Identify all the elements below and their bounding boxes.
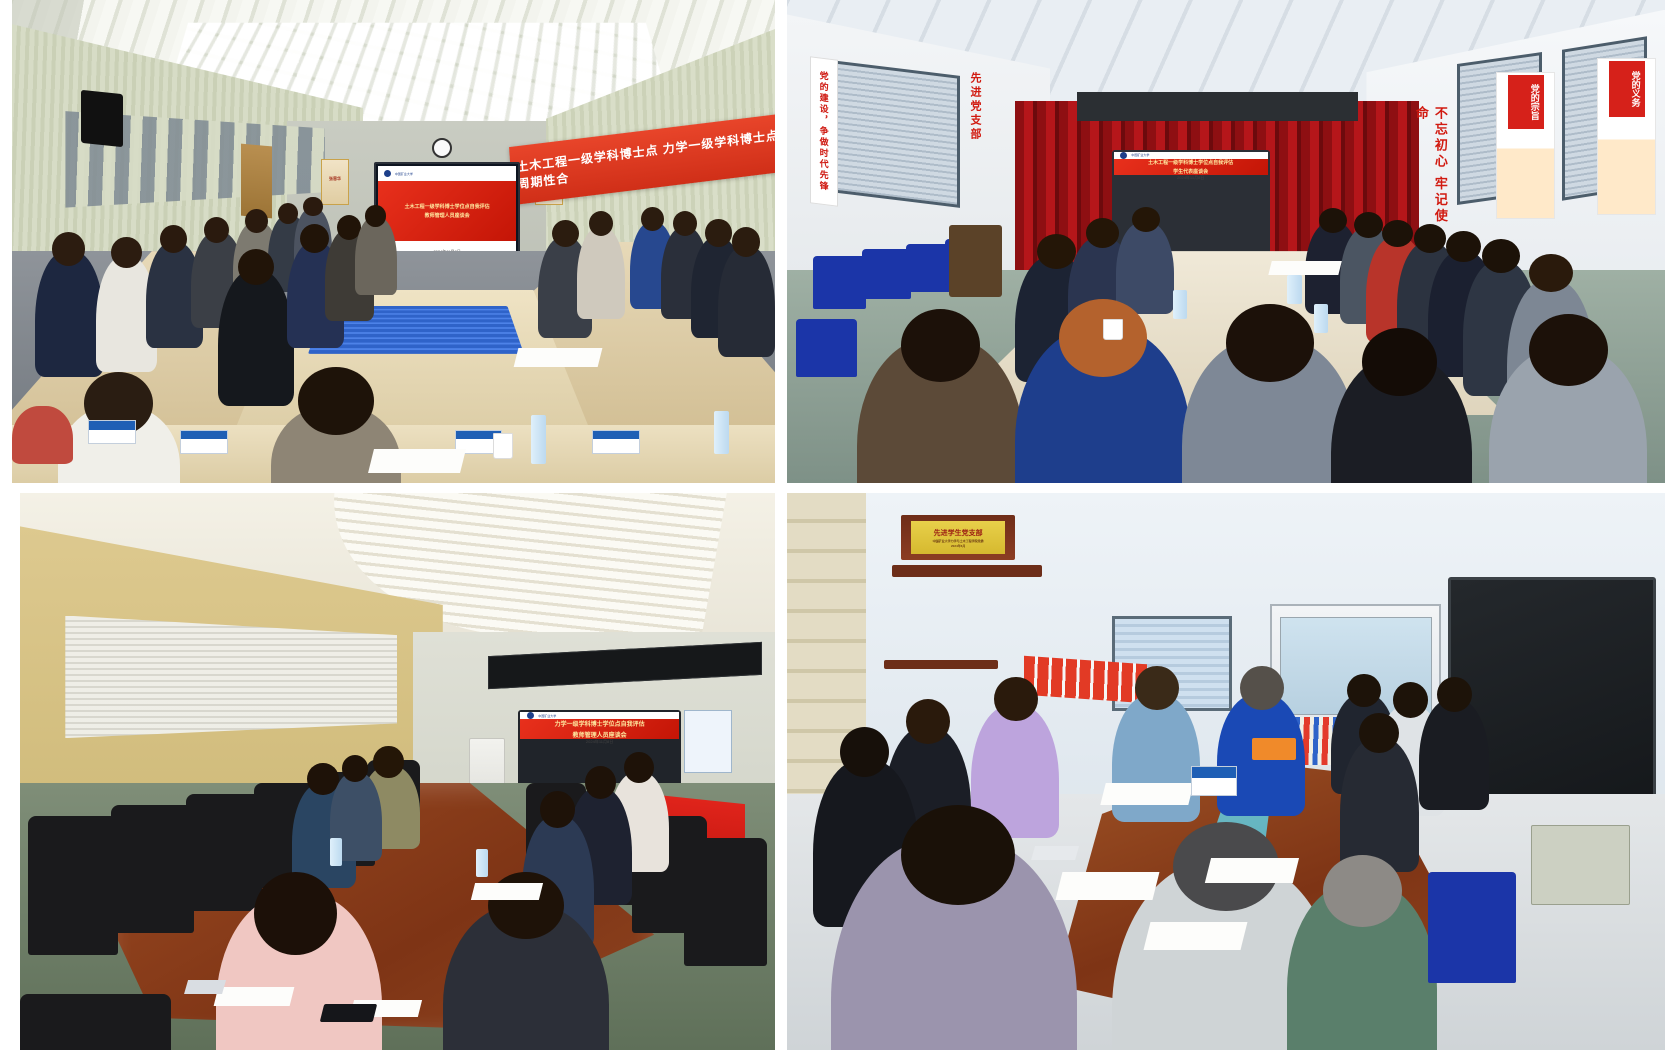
left-wall-slogan: 党的建设，争做时代先锋 — [810, 56, 838, 206]
tissue-box — [1031, 846, 1079, 860]
wooden-chair — [949, 225, 1002, 297]
name-card — [1191, 766, 1237, 796]
party-poster-2-title: 党的义务 — [1609, 61, 1645, 118]
photo-top-right: 党的建设，争做时代先锋 先进党支部 不忘初心 牢记使命 党的宗旨 党的义务 中国… — [787, 0, 1665, 483]
water-bottle — [476, 849, 488, 877]
paper-cup — [1103, 319, 1123, 340]
water-bottle — [330, 838, 342, 866]
water-bottle — [1287, 275, 1301, 304]
slide-title-line1: 土木工程一级学科博士学位点自我评估 — [405, 203, 490, 210]
paper-sheet — [1056, 872, 1160, 900]
photo-collage: 张恩华 正方做事 做成做优 土木工程一级学科博士点 力学一级学科博士点周期性合 … — [0, 0, 1680, 1050]
slide: 中国矿业大学 土木工程一级学科博士学位点自我评估 教师管理人员座谈会 2024年… — [378, 166, 515, 263]
right-wall-slogan: 不忘初心 牢记使命 — [1412, 106, 1450, 232]
slide-org: 中国矿业大学 — [1131, 153, 1149, 157]
paper-sheet — [1143, 922, 1247, 950]
honor-plaque-date: 2024年6月 — [951, 544, 965, 548]
party-poster-1: 党的宗旨 — [1496, 72, 1555, 219]
water-bottle — [714, 411, 729, 454]
window-blinds — [65, 616, 397, 739]
slide-title-line1: 土木工程一级学科博士学位点自我评估 — [1148, 159, 1233, 166]
stage-beam — [1077, 92, 1358, 121]
wall-shelf — [884, 660, 998, 669]
paper-sheet — [1100, 783, 1193, 805]
slide-title-line2: 教师管理人员座谈会 — [573, 730, 627, 739]
party-poster-1-title: 党的宗旨 — [1508, 75, 1544, 128]
right-wall-slogan-text: 不忘初心 牢记使命 — [1414, 106, 1448, 225]
slide-header: 中国矿业大学 — [378, 166, 515, 181]
slide-title-line2: 教师管理人员座谈会 — [425, 212, 470, 219]
honor-plaque: 先进学生党支部 中国矿业大学力学与土木工程学院党委 2024年6月 — [901, 515, 1015, 560]
slide-date: 2024年11月8日 — [520, 739, 679, 745]
name-card — [592, 430, 640, 454]
wall-speaker — [81, 90, 123, 148]
honor-plaque-title: 先进学生党支部 — [934, 528, 983, 538]
wall-portrait-caption: 张恩华 — [322, 176, 348, 182]
slide: 中国矿业大学 力学一级学科博士学位点自我评估 教师管理人员座谈会 2024年11… — [520, 712, 679, 745]
paper-sheet — [1205, 858, 1299, 883]
university-logo-icon — [527, 712, 534, 719]
water-bottle — [1173, 290, 1187, 319]
tissue-box — [184, 980, 226, 994]
slide-date: 2024年11月8日 — [1114, 175, 1268, 181]
window — [831, 60, 960, 207]
notebook — [320, 1004, 377, 1022]
side-chair — [1531, 825, 1630, 905]
paper-sheet — [513, 348, 602, 367]
wall-shelf — [892, 565, 1041, 576]
university-logo-icon — [384, 170, 391, 177]
slide-title-block: 土木工程一级学科博士学位点自我评估 教师管理人员座谈会 — [378, 181, 515, 241]
university-logo-icon — [1120, 152, 1127, 159]
name-card — [88, 420, 136, 444]
slide-header: 中国矿业大学 — [520, 712, 679, 719]
paper-sheet — [368, 449, 466, 473]
scene-top-left: 张恩华 正方做事 做成做优 土木工程一级学科博士点 力学一级学科博士点周期性合 … — [12, 0, 775, 483]
slide-title-block: 土木工程一级学科博士学位点自我评估 学生代表座谈会 — [1114, 159, 1268, 175]
door — [241, 144, 272, 219]
party-poster-2: 党的义务 — [1597, 58, 1656, 215]
notice-board — [684, 710, 731, 773]
water-bottle — [1314, 304, 1328, 333]
honor-plaque-sub: 中国矿业大学力学与土木工程学院党委 — [933, 539, 984, 543]
scene-bottom-right: 先进学生党支部 中国矿业大学力学与土木工程学院党委 2024年6月 — [787, 493, 1665, 1050]
photo-top-left: 张恩华 正方做事 做成做优 土木工程一级学科博士点 力学一级学科博士点周期性合 … — [12, 0, 775, 483]
wall-slogan-secondary: 先进党支部 — [967, 72, 983, 144]
slide-title-line1: 力学一级学科博士学位点自我评估 — [555, 719, 645, 728]
orange-box — [1252, 738, 1296, 760]
wall-clock — [432, 138, 452, 158]
wall-portrait: 张恩华 — [321, 159, 349, 204]
paper-sheet — [471, 883, 543, 900]
slide-title-block: 力学一级学科博士学位点自我评估 教师管理人员座谈会 — [520, 719, 679, 739]
photo-bottom-left: 中国矿业大学 力学一级学科博士学位点自我评估 教师管理人员座谈会 2024年11… — [20, 493, 775, 1050]
slide-org: 中国矿业大学 — [395, 172, 413, 176]
wall-plaque-text: 先进党支部 — [969, 72, 981, 142]
photo-bottom-right: 先进学生党支部 中国矿业大学力学与土木工程学院党委 2024年6月 — [787, 493, 1665, 1050]
paper-sheet — [1268, 261, 1342, 275]
slide-header: 中国矿业大学 — [1114, 152, 1268, 159]
scene-top-right: 党的建设，争做时代先锋 先进党支部 不忘初心 牢记使命 党的宗旨 党的义务 中国… — [787, 0, 1665, 483]
left-wall-slogan-text: 党的建设，争做时代先锋 — [817, 70, 830, 193]
paper-sheet — [214, 987, 294, 1006]
blue-chair — [1428, 872, 1516, 983]
slide: 中国矿业大学 土木工程一级学科博士学位点自我评估 学生代表座谈会 2024年11… — [1114, 152, 1268, 181]
scene-bottom-left: 中国矿业大学 力学一级学科博士学位点自我评估 教师管理人员座谈会 2024年11… — [20, 493, 775, 1050]
paper-cup — [493, 433, 513, 459]
slide-org: 中国矿业大学 — [538, 714, 556, 718]
slide-title-line2: 学生代表座谈会 — [1173, 168, 1208, 175]
name-card — [180, 430, 228, 454]
water-bottle — [531, 415, 546, 463]
